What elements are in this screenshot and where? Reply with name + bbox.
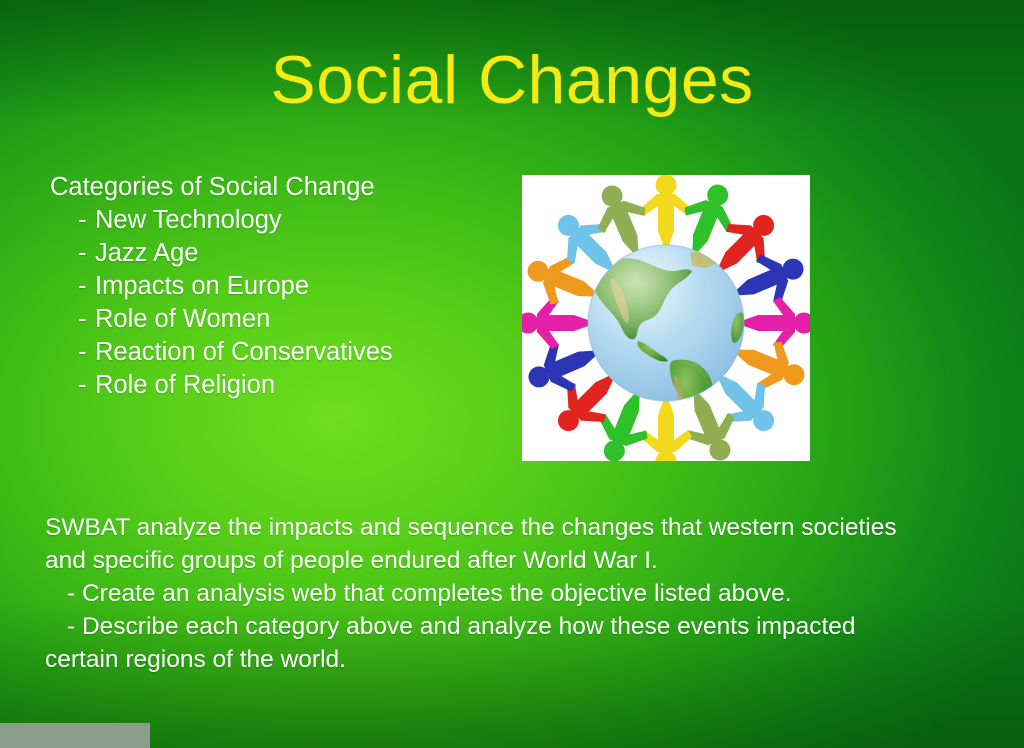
list-item: -Role of Religion (78, 369, 393, 402)
footer-accent-bar (0, 723, 150, 748)
list-item: -Jazz Age (78, 237, 393, 270)
slide-image-frame (522, 175, 810, 461)
categories-heading: Categories of Social Change (50, 171, 393, 204)
dash-marker: - (78, 237, 95, 270)
dash-marker: - (78, 270, 95, 303)
list-item-label: Reaction of Conservatives (95, 338, 393, 366)
objective-task-2: - Describe each category above and analy… (45, 610, 935, 676)
dash-marker: - (78, 336, 95, 369)
list-item: -Role of Women (78, 303, 393, 336)
categories-list: -New Technology -Jazz Age -Impacts on Eu… (50, 204, 393, 402)
objective-task-2-text: - Describe each category above and analy… (45, 613, 856, 673)
objective-block: SWBAT analyze the impacts and sequence t… (45, 511, 935, 676)
dash-marker: - (78, 204, 95, 237)
list-item: -New Technology (78, 204, 393, 237)
list-item-label: Jazz Age (95, 239, 198, 267)
list-item-label: New Technology (95, 206, 282, 234)
list-item-label: Impacts on Europe (95, 272, 309, 300)
dash-marker: - (78, 303, 95, 336)
globe-with-people-image (522, 175, 810, 461)
dash-marker: - (78, 369, 95, 402)
slide-title: Social Changes (0, 46, 1024, 114)
list-item: -Reaction of Conservatives (78, 336, 393, 369)
objective-task-1-text: - Create an analysis web that completes … (67, 580, 792, 607)
presentation-slide: Social Changes Categories of Social Chan… (0, 0, 1024, 748)
list-item-label: Role of Religion (95, 371, 275, 399)
list-item-label: Role of Women (95, 305, 270, 333)
list-item: -Impacts on Europe (78, 270, 393, 303)
objective-swbat: SWBAT analyze the impacts and sequence t… (45, 511, 935, 577)
categories-block: Categories of Social Change -New Technol… (50, 171, 393, 402)
objective-task-1: - Create an analysis web that completes … (45, 577, 935, 610)
